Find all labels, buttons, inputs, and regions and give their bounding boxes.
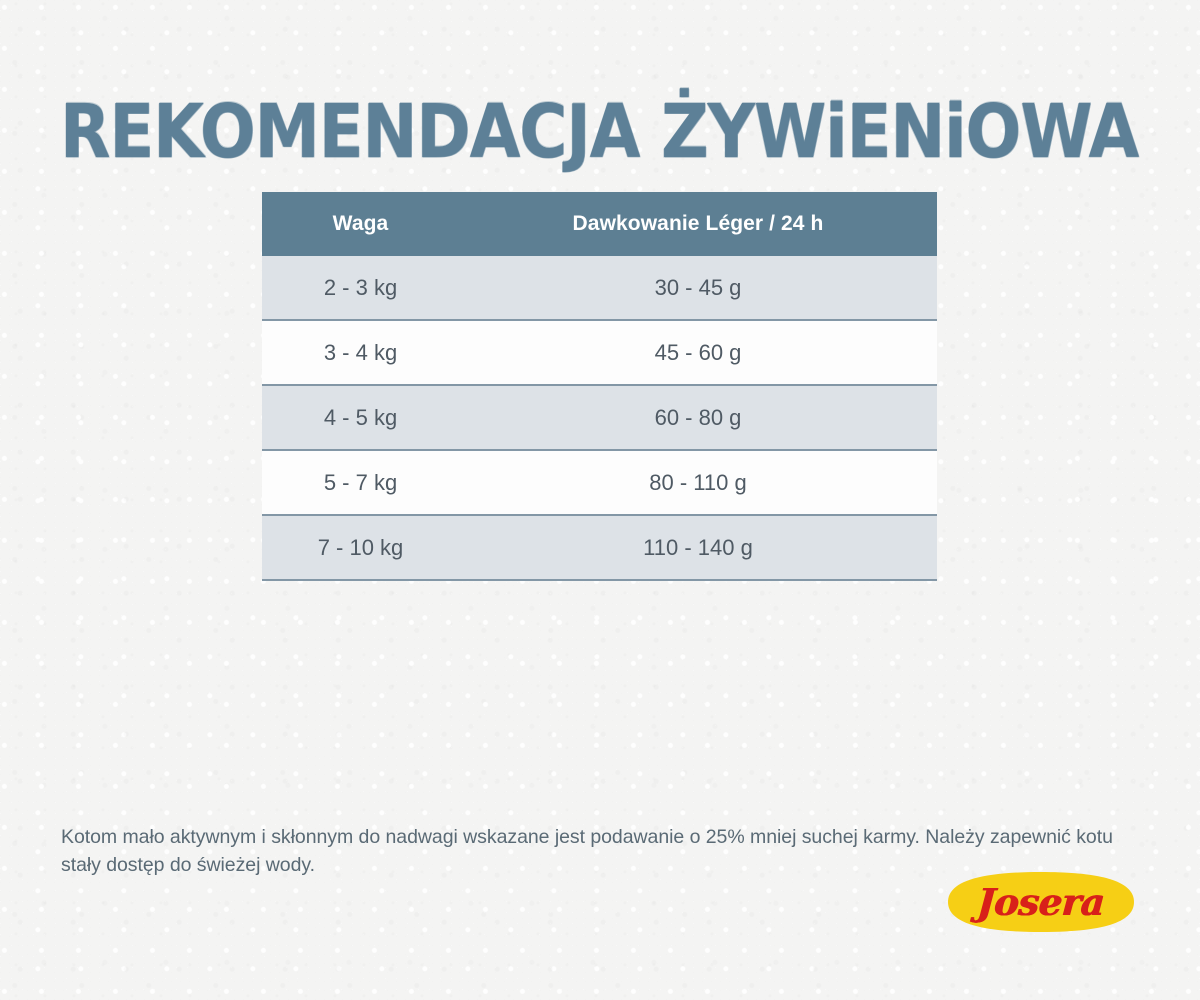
cell-dosage: 30 - 45 g xyxy=(459,256,937,320)
table-row: 2 - 3 kg 30 - 45 g xyxy=(262,256,937,320)
page-title: REKOMENDACJA ŻYWiENiOWA xyxy=(60,85,1100,179)
cell-weight: 4 - 5 kg xyxy=(262,385,459,450)
table-row: 4 - 5 kg 60 - 80 g xyxy=(262,385,937,450)
table-row: 5 - 7 kg 80 - 110 g xyxy=(262,450,937,515)
cell-dosage: 60 - 80 g xyxy=(459,385,937,450)
cell-weight: 5 - 7 kg xyxy=(262,450,459,515)
table-header-row: Waga Dawkowanie Léger / 24 h xyxy=(262,192,937,256)
cell-weight: 7 - 10 kg xyxy=(262,515,459,580)
column-header-dosage: Dawkowanie Léger / 24 h xyxy=(459,192,937,256)
table-header: Waga Dawkowanie Léger / 24 h xyxy=(262,192,937,256)
column-header-weight: Waga xyxy=(262,192,459,256)
table-row: 7 - 10 kg 110 - 140 g xyxy=(262,515,937,580)
cell-dosage: 110 - 140 g xyxy=(459,515,937,580)
logo-badge-shape xyxy=(942,868,1140,936)
cell-weight: 3 - 4 kg xyxy=(262,320,459,385)
cell-dosage: 80 - 110 g xyxy=(459,450,937,515)
cell-dosage: 45 - 60 g xyxy=(459,320,937,385)
cell-weight: 2 - 3 kg xyxy=(262,256,459,320)
feeding-recommendation-table: Waga Dawkowanie Léger / 24 h 2 - 3 kg 30… xyxy=(262,192,937,581)
josera-logo: Josera xyxy=(942,868,1140,936)
table-body: 2 - 3 kg 30 - 45 g 3 - 4 kg 45 - 60 g 4 … xyxy=(262,256,937,580)
table-row: 3 - 4 kg 45 - 60 g xyxy=(262,320,937,385)
